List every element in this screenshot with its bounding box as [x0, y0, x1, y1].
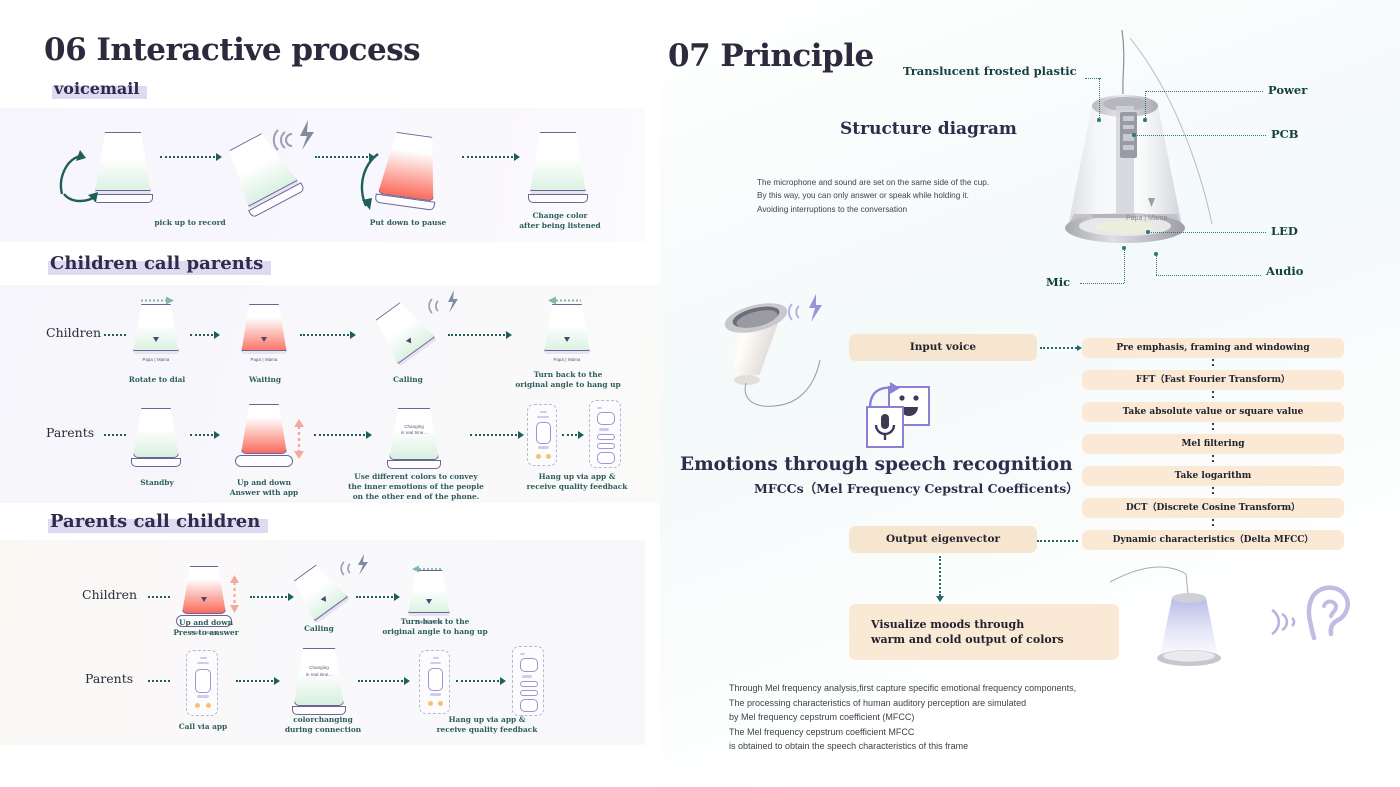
arrow-head-icon: [578, 431, 584, 439]
flow-connector: [1212, 487, 1214, 494]
callout-pin: [1154, 252, 1158, 256]
dial-rotate-indicator-icon: [140, 292, 174, 310]
microphone-icon-box: [866, 406, 904, 448]
emotions-title: Emotions through speech recognition: [680, 454, 1073, 475]
flow-arrow-ccp-c3: [448, 330, 512, 340]
caption-pcc-p1: Call via app: [170, 722, 236, 732]
arrow-dots: [160, 156, 215, 158]
up-down-arrow-icon: [228, 574, 241, 619]
phone-screen: [192, 656, 212, 710]
flow-box-output-eigenvector: Output eigenvector: [849, 526, 1037, 553]
subtitle-structure-diagram-text: Structure diagram: [840, 119, 1017, 139]
phone-ui-card: [597, 412, 615, 425]
lamp-pointer-icon: [426, 599, 432, 604]
caption-voicemail-1: pick up to record: [140, 218, 240, 228]
arrow-dots: [250, 596, 287, 598]
leader-line: [1099, 78, 1100, 120]
flow-connector: [1212, 359, 1214, 366]
arrow-dots: [356, 596, 393, 598]
arrow-dots: [236, 680, 273, 682]
leader-line: [1080, 283, 1124, 284]
subtitle-parents-call-children-text: Parents call children: [50, 511, 260, 532]
subtitle-children-call-parents: Children call parents: [48, 252, 271, 276]
phone-ui-card: [597, 443, 615, 449]
flow-connector: [1212, 423, 1214, 430]
lamp-device-ccp-p3: Changing in real time...: [389, 408, 439, 460]
arrow-head-icon: [394, 593, 400, 601]
flow-connector: [1212, 519, 1214, 526]
flow-connector: [1212, 455, 1214, 462]
caption-ccp-p2: Up and down Answer with app: [222, 478, 306, 498]
rotate-down-arrow-icon: [352, 150, 386, 219]
arrow-dots: [456, 680, 499, 682]
svg-text:Papa | Mama: Papa | Mama: [1126, 215, 1168, 222]
callout-power: Power: [1268, 83, 1307, 97]
callout-pin: [1122, 246, 1126, 250]
phone-call-card: [536, 422, 551, 444]
rotate-back-indicator-icon: [410, 560, 440, 578]
row-label-children-pcc: Children: [82, 587, 137, 602]
arrow-dots: [1040, 347, 1077, 349]
caption-ccp-c2: Waiting: [231, 375, 299, 385]
flow-step-6: DCT（Discrete Cosine Transform）: [1082, 498, 1344, 518]
sound-wave-icon: [786, 292, 832, 330]
flow-arrow-pcc-p0: [148, 676, 170, 686]
lamp-body: [95, 132, 151, 194]
curved-arrow-icon: [866, 382, 908, 412]
phone-ui-element: [520, 653, 525, 655]
caption-pcc-p3: Hang up via app & receive quality feedba…: [422, 715, 552, 735]
callout-audio: Audio: [1266, 264, 1303, 278]
flow-step-4: Mel filtering: [1082, 434, 1344, 454]
flow-step-1: Pre emphasis, framing and windowing: [1082, 338, 1344, 358]
lamp-device-ccp-c1: Papa | Mama: [133, 304, 179, 354]
subtitle-voicemail: voicemail: [52, 78, 147, 100]
phone-indicator-dot: [546, 454, 551, 459]
leader-line: [1148, 232, 1266, 233]
lamp-light-bar: [242, 350, 286, 354]
callout-mic: Mic: [1046, 275, 1070, 289]
phone-ui-element: [597, 407, 602, 409]
lamp-pointer-icon: [564, 337, 570, 342]
lamp-base-plate: [387, 460, 441, 469]
arrow-dots: [939, 556, 941, 596]
phone-call-card: [195, 669, 211, 693]
lamp-base-label: Papa | Mama: [241, 357, 287, 362]
lamp-pointer-icon: [153, 337, 159, 342]
arrow-dots: [448, 334, 505, 336]
flow-arrow-pcc-p3: [456, 676, 506, 686]
arrow-dots: [104, 334, 126, 336]
subtitle-structure-diagram: Structure diagram: [838, 118, 1025, 141]
phone-mockup-feedback-ccp[interactable]: [589, 400, 621, 468]
lamp-light-bar: [545, 350, 589, 354]
arrow-head-icon: [366, 431, 372, 439]
lamp-device-pcc-p2: Changing in real time...: [294, 648, 344, 706]
callout-pin: [1146, 230, 1150, 234]
phone-ui-element: [599, 428, 609, 431]
arrow-head-icon: [506, 331, 512, 339]
arrow-dots: [358, 680, 403, 682]
arrow-head-icon: [214, 431, 220, 439]
flow-arrow-steps-to-output: [1032, 536, 1078, 545]
phone-ui-element: [430, 693, 441, 696]
flow-arrow-ccp-p4: [562, 430, 584, 440]
arrow-head-icon: [500, 677, 506, 685]
phone-ui-card: [597, 452, 615, 464]
phone-indicator-dot: [438, 701, 443, 706]
up-down-arrow-icon: [292, 418, 306, 465]
arrow-head-icon: [936, 596, 944, 602]
phone-ui-element: [433, 657, 439, 659]
interactive-process-column: 06 Interactive process voicemail Childre…: [0, 0, 660, 787]
caption-pcc-c2: Calling: [288, 624, 350, 634]
leader-line: [1134, 135, 1266, 136]
caption-voicemail-3: Change color after being listened: [508, 211, 612, 231]
arrow-dots: [462, 156, 513, 158]
lamp-body: [133, 408, 179, 458]
caption-pcc-c1: Up and down Press to answer: [165, 618, 247, 638]
flow-step-5: Take logarithm: [1082, 466, 1344, 486]
phone-indicator-dot: [195, 703, 200, 708]
phone-screen: [533, 410, 551, 460]
phone-screen: [595, 406, 615, 462]
lamp-base-plate: [528, 194, 588, 203]
lamp-body: [544, 304, 590, 354]
leader-line: [1156, 275, 1261, 276]
phone-screen: [425, 656, 444, 708]
caption-ccp-c4: Turn back to the original angle to hang …: [512, 370, 624, 390]
flow-box-visualize-moods: Visualize moods through warm and cold ou…: [849, 604, 1119, 660]
flow-arrow-ccp-c1: [190, 330, 220, 340]
caption-ccp-c1: Rotate to dial: [123, 375, 191, 385]
phone-mockup-hangup-pcc[interactable]: [419, 650, 450, 714]
caption-ccp-p3: Use different colors to convey the inner…: [348, 472, 484, 501]
callout-pin: [1143, 118, 1147, 122]
phone-ui-card: [520, 658, 538, 672]
flow-arrow-ccp-p3: [470, 430, 524, 440]
phone-ui-card: [520, 699, 538, 712]
lamp-screen-text: Changing in real time...: [389, 424, 439, 438]
flow-step-2: FFT（Fast Fourier Transform）: [1082, 370, 1344, 390]
flow-arrow-pcc-c0: [148, 592, 170, 602]
flow-arrow-pcc-p1: [236, 676, 280, 686]
lamp-base-plate: [93, 194, 153, 203]
lamp-body: [133, 304, 179, 354]
structure-lead-paragraph: The microphone and sound are set on the …: [757, 176, 989, 216]
section-title-06: 06 Interactive process: [44, 32, 420, 68]
row-label-children-ccp: Children: [46, 325, 101, 340]
arrow-head-icon: [518, 431, 524, 439]
flow-arrow-ccp-c2: [300, 330, 356, 340]
lamp-device-ccp-c2: Papa | Mama: [241, 304, 287, 354]
arrow-head-icon: [274, 677, 280, 685]
phone-ui-card: [597, 434, 615, 440]
phone-ui-card: [520, 690, 538, 696]
arrow-dots: [562, 434, 577, 436]
lamp-device-voicemail-3: [378, 130, 442, 201]
subtitle-mfcc-text: MFCCs（Mel Frequency Cepstral Coefficents…: [754, 481, 1079, 496]
phone-ui-card: [520, 681, 538, 687]
lamp-device-voicemail-4: [530, 132, 586, 194]
callout-pcb: PCB: [1271, 127, 1299, 141]
phone-ui-element: [197, 662, 209, 664]
flow-arrow-ccp-p1: [190, 430, 220, 440]
caption-voicemail-2: Put down to pause: [358, 218, 458, 228]
phone-mockup-feedback-pcc[interactable]: [512, 646, 544, 716]
flow-arrow-pcc-p2: [358, 676, 410, 686]
phone-indicator-dot: [428, 701, 433, 706]
lamp-body: [530, 132, 586, 194]
callout-pin: [1097, 118, 1101, 122]
flow-connector: [1212, 391, 1214, 398]
phone-ui-element: [540, 411, 547, 413]
arrow-dots: [300, 334, 349, 336]
lamp-light-bar: [134, 350, 178, 354]
phone-ui-element: [430, 662, 441, 664]
rotate-up-arrow-icon: [52, 148, 98, 209]
flow-arrow-ccp-p0: [104, 430, 126, 440]
leader-line: [1085, 78, 1101, 79]
subtitle-parents-call-children: Parents call children: [48, 510, 268, 534]
lamp-device-ccp-p2: [241, 404, 287, 454]
phone-ui-element: [197, 695, 209, 698]
callout-pin: [1132, 133, 1136, 137]
lamp-base-plate: [292, 706, 346, 715]
phone-ui-element: [538, 446, 549, 449]
arrow-head-icon: [214, 331, 220, 339]
arrow-head-icon: [404, 677, 410, 685]
ear-icon: [1300, 582, 1354, 644]
arrow-head-icon: [350, 331, 356, 339]
leader-line: [1156, 254, 1157, 275]
lamp-base-label: Papa | Mama: [544, 357, 590, 362]
callout-translucent-frosted-plastic: Translucent frosted plastic: [903, 64, 1077, 78]
caption-pcc-c3: Turn back to the original angle to hang …: [382, 617, 488, 637]
arrow-dots: [148, 680, 170, 682]
lamp-body: [241, 404, 287, 454]
leader-line: [1145, 91, 1146, 120]
rotate-back-indicator-icon: [546, 292, 580, 310]
phone-mockup-hangup-ccp[interactable]: [527, 404, 557, 466]
sound-wave-icon: [428, 288, 468, 322]
arrow-dots: [1037, 540, 1078, 542]
arrow-dots: [190, 334, 213, 336]
arrow-dots: [148, 596, 170, 598]
lamp-device-voicemail-1: [95, 132, 151, 194]
phone-indicator-dot: [536, 454, 541, 459]
caption-ccp-p4: Hang up via app & receive quality feedba…: [512, 472, 642, 492]
phone-ui-element: [522, 675, 532, 678]
lamp-base-label: Papa | Mama: [133, 357, 179, 362]
lamp-body: [378, 130, 442, 201]
poster-root: 06 Interactive process voicemail Childre…: [0, 0, 1400, 787]
flow-arrow-pcc-c2: [356, 592, 400, 602]
lamp-screen-text: Changing in real time...: [294, 665, 344, 679]
caption-pcc-p2: colorchanging during connection: [278, 715, 368, 735]
callout-led: LED: [1271, 224, 1298, 238]
arrow-dots: [104, 434, 126, 436]
lamp-pointer-icon: [261, 337, 267, 342]
subtitle-voicemail-text: voicemail: [54, 79, 139, 98]
arrow-head-icon: [514, 153, 520, 161]
section-title-07: 07 Principle: [668, 38, 874, 74]
phone-ui-element: [537, 416, 549, 418]
flow-arrow-voicemail-1: [160, 152, 222, 162]
phone-ui-element: [200, 657, 207, 659]
flow-step-3: Take absolute value or square value: [1082, 402, 1344, 422]
flow-arrow-voicemail-3: [462, 152, 520, 162]
arrow-dots: [314, 434, 365, 436]
lamp-base-plate: [131, 458, 181, 467]
lamp-body: [182, 566, 226, 614]
lamp-device-ccp-p1: [133, 408, 179, 458]
phone-indicator-dot: [206, 703, 211, 708]
lamp-light-bar: [409, 612, 449, 616]
phone-mockup-call-pcc[interactable]: [186, 650, 218, 716]
row-label-parents-pcc: Parents: [85, 671, 133, 686]
lamp-device-ccp-c4: Papa | Mama: [544, 304, 590, 354]
caption-ccp-p1: Standby: [124, 478, 190, 488]
flow-box-input-voice: Input voice: [849, 334, 1037, 361]
subtitle-children-call-parents-text: Children call parents: [50, 253, 263, 274]
lamp-pointer-icon: [201, 597, 207, 602]
lamp-device-pcc-c1: Papa | Mama: [182, 566, 226, 614]
flow-arrow-output-to-visualize: [936, 556, 944, 602]
sound-wave-icon: [340, 552, 376, 584]
subtitle-mfcc: MFCCs（Mel Frequency Cepstral Coefficents…: [752, 477, 1087, 499]
flow-arrow-ccp-c0: [104, 330, 126, 340]
caption-ccp-c3: Calling: [374, 375, 442, 385]
flow-step-7: Dynamic characteristics（Delta MFCC）: [1082, 530, 1344, 550]
flow-arrow-ccp-p2: [314, 430, 372, 440]
flow-arrow-pcc-c1: [250, 592, 294, 602]
phone-call-card: [428, 668, 443, 691]
arrow-dots: [470, 434, 517, 436]
phone-screen: [518, 652, 538, 710]
lamp-pedestal: [235, 455, 293, 467]
row-label-parents-ccp: Parents: [46, 425, 94, 440]
arrow-head-icon: [288, 593, 294, 601]
principle-footer-paragraph: Through Mel frequency analysis,first cap…: [729, 681, 1076, 754]
leader-line: [1124, 248, 1125, 283]
leader-line: [1145, 91, 1263, 92]
arrow-dots: [190, 434, 213, 436]
lamp-body: [241, 304, 287, 354]
flow-arrow-input-to-steps: [1040, 343, 1082, 352]
